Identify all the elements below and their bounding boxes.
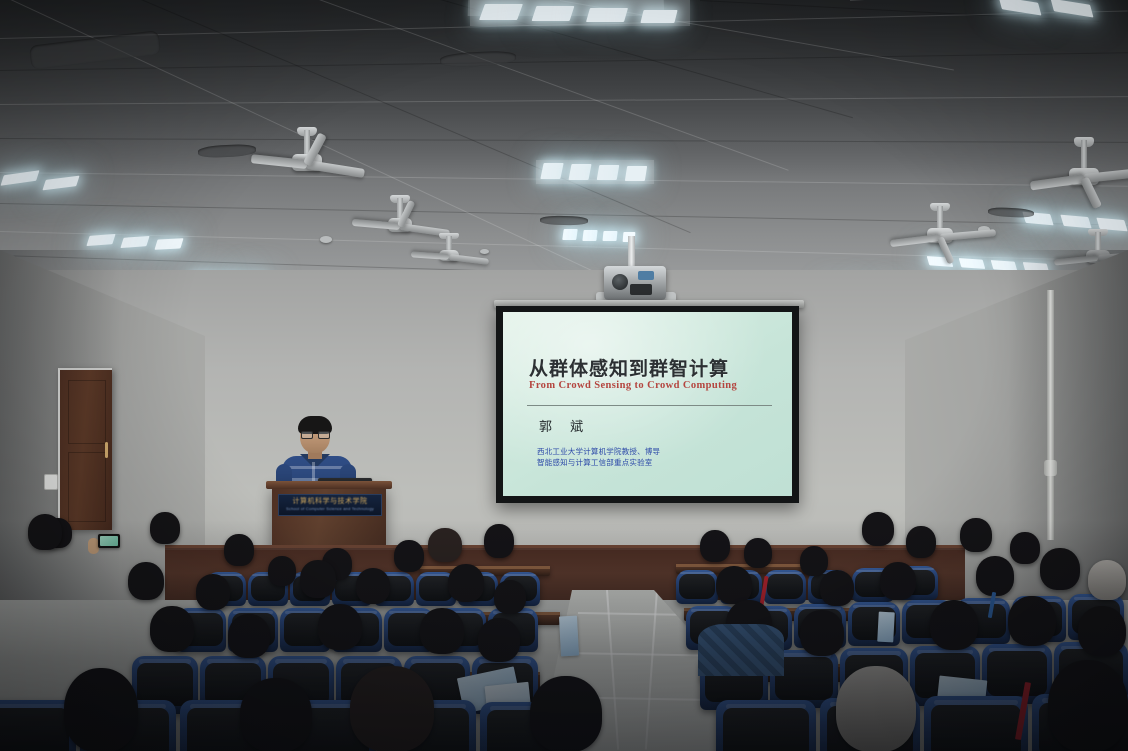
wall-pipe-joint: [1044, 460, 1057, 476]
phone[interactable]: [98, 534, 120, 548]
podium-top: [266, 481, 392, 489]
ceiling-fan: [1040, 140, 1128, 202]
chair[interactable]: [716, 700, 816, 751]
door-panel: [68, 380, 106, 444]
ceiling-grid-line: [850, 0, 1128, 1]
door[interactable]: [58, 368, 112, 530]
ceiling-shadow: [0, 0, 1128, 180]
glasses-icon: [301, 431, 329, 437]
chair[interactable]: [676, 570, 718, 604]
ceiling-lamp: [120, 236, 149, 248]
ceiling-lamp: [602, 231, 617, 241]
door-handle-icon[interactable]: [105, 442, 108, 458]
ceiling-vent: [198, 143, 257, 158]
ceiling-lamp: [42, 176, 79, 191]
slide-speaker-name: 郭 斌: [539, 416, 590, 435]
presenter-placket: [312, 462, 315, 482]
ceiling-lamp: [562, 229, 578, 240]
ceiling-lamp: [582, 230, 597, 241]
ceiling-lamp: [1051, 0, 1094, 17]
ceiling-lamp: [1060, 215, 1091, 229]
ceiling-vent: [540, 216, 588, 226]
projector-mount: [628, 236, 635, 270]
slide-glare: [503, 312, 792, 496]
chair[interactable]: [764, 570, 806, 604]
slide-title: 从群体感知到群智计算: [529, 354, 729, 381]
conference-booklet[interactable]: [559, 616, 579, 657]
light-trough: [536, 160, 654, 184]
door-panel: [68, 452, 106, 522]
podium-banner-en: School of Computer Science and Technolog…: [283, 506, 377, 511]
ceiling-grid-line: [0, 138, 1128, 143]
podium-banner: 计算机科学与技术学院 School of Computer Science an…: [278, 494, 382, 516]
podium-banner-cn: 计算机科学与技术学院: [283, 496, 377, 506]
smoke-detector: [320, 236, 332, 243]
projected-slide: 从群体感知到群智计算 From Crowd Sensing to Crowd C…: [503, 312, 792, 496]
slide-divider: [527, 405, 772, 406]
lecture-hall-photo: 从群体感知到群智计算 From Crowd Sensing to Crowd C…: [0, 0, 1128, 751]
wall-pipe: [1047, 290, 1054, 540]
ceiling-vent: [440, 50, 517, 68]
ceiling-fan: [262, 130, 352, 190]
chair[interactable]: [924, 696, 1028, 751]
head: [28, 514, 62, 550]
slide-affiliation-line-1: 西北工业大学计算机学院教授、博导: [537, 446, 660, 457]
ceiling-lamp: [154, 238, 183, 250]
ceiling-grid-line: [0, 52, 1128, 71]
light-trough: [470, 0, 690, 26]
ceiling-fan: [898, 206, 982, 262]
ceiling-grid-line: [1090, 0, 1128, 1]
slide-subtitle: From Crowd Sensing to Crowd Computing: [529, 380, 737, 391]
light-switch[interactable]: [44, 474, 58, 490]
projector-body-detail: [630, 284, 652, 295]
ceiling-vent: [988, 207, 1034, 218]
projector: [604, 266, 666, 300]
ceiling-grid-line: [0, 96, 1128, 105]
projector-lens-icon: [612, 274, 628, 290]
slide-affiliation-line-2: 智能感知与计算工信部重点实验室: [537, 457, 653, 468]
projector-indicator: [638, 271, 654, 280]
conference-booklet[interactable]: [877, 612, 895, 643]
ceiling-lamp: [86, 234, 115, 246]
